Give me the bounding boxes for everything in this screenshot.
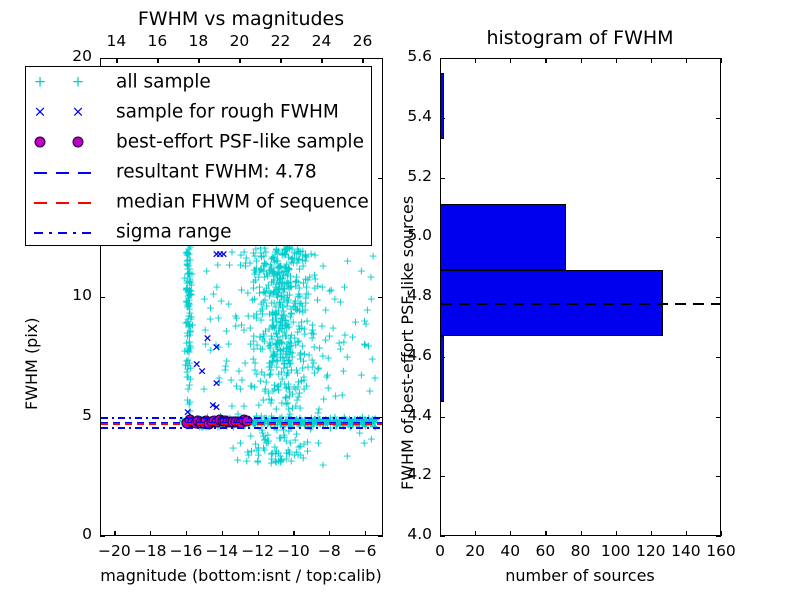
hist-ytick-label: 4.4 [407, 406, 432, 424]
all-sample-point: + [184, 268, 193, 279]
legend-entry[interactable]: sigma range [26, 218, 371, 246]
all-sample-point: + [241, 358, 250, 369]
hist-xtick-top [721, 58, 722, 63]
hist-xtick [545, 531, 546, 536]
all-sample-point: + [261, 434, 270, 445]
hist-ytick-label: 4.2 [407, 465, 432, 483]
hist-ytick-label: 4.0 [407, 525, 432, 543]
dashed-line [34, 172, 92, 174]
all-sample-point: + [220, 365, 229, 376]
all-sample-point: + [249, 277, 258, 288]
all-sample-point: + [367, 294, 376, 305]
all-sample-point: + [318, 460, 327, 471]
all-sample-point: + [280, 261, 289, 272]
dash-dot-line [34, 232, 92, 234]
legend-entry[interactable]: median FHWM of sequence [26, 188, 371, 216]
all-sample-point: + [310, 270, 319, 281]
hist-xtick-top [581, 58, 582, 63]
refline-median-fhwm-of-sequence [101, 423, 382, 425]
all-sample-point: + [357, 265, 366, 276]
histogram-xaxis-label: number of sources [505, 566, 655, 585]
hist-ytick-right [716, 536, 721, 537]
legend-entry[interactable]: best-effort PSF-like sample [26, 128, 371, 156]
hist-xtick-label: 100 [601, 542, 631, 560]
all-sample-point: + [361, 319, 370, 330]
hist-ytick-right [716, 357, 721, 358]
ytick-label: 20 [72, 47, 92, 65]
all-sample-point: + [186, 285, 195, 296]
all-sample-point: + [303, 436, 312, 447]
hist-xtick [475, 531, 476, 536]
all-sample-point: + [366, 271, 375, 282]
legend-entry-label: resultant FWHM: 4.78 [116, 162, 317, 183]
all-sample-point: + [185, 319, 194, 330]
xtick-label-bottom: −10 [277, 542, 310, 560]
hist-ytick-label: 5.2 [407, 167, 432, 185]
all-sample-point: + [233, 454, 242, 465]
hist-ytick [440, 536, 445, 537]
all-sample-point: + [370, 373, 379, 384]
ytick-left [100, 536, 105, 537]
all-sample-point: + [244, 311, 253, 322]
all-sample-point: + [276, 456, 285, 467]
all-sample-point: + [227, 247, 236, 258]
all-sample-point: + [271, 247, 280, 258]
hist-ytick [440, 417, 445, 418]
hist-ytick-label: 5.0 [407, 226, 432, 244]
legend-entry-label: best-effort PSF-like sample [116, 132, 364, 153]
all-sample-point: + [296, 403, 305, 414]
all-sample-point: + [254, 400, 263, 411]
hist-xtick [510, 531, 511, 536]
legend-entry[interactable]: resultant FWHM: 4.78 [26, 158, 371, 186]
all-sample-point: + [280, 358, 289, 369]
xtick-label-bottom: −6 [354, 542, 377, 560]
plot-legend: ++all sample××sample for rough FWHMbest-… [25, 66, 372, 246]
rough-fwhm-point: × [212, 401, 221, 412]
hist-ytick [440, 178, 445, 179]
hist-xtick-top [475, 58, 476, 63]
all-sample-point: + [368, 354, 377, 365]
all-sample-point: + [295, 283, 304, 294]
all-sample-point: + [323, 369, 332, 380]
scatter-plot-title: FWHM vs magnitudes [138, 8, 344, 30]
all-sample-point: + [339, 365, 348, 376]
hist-xtick [651, 531, 652, 536]
all-sample-point: + [272, 403, 281, 414]
all-sample-point: + [249, 354, 258, 365]
figure-canvas: FWHM vs magnitudes magnitude (bottom:isn… [0, 0, 800, 600]
all-sample-point: + [343, 351, 352, 362]
xtick-label-top: 22 [271, 32, 291, 50]
all-sample-point: + [268, 448, 277, 459]
ytick-label: 5 [82, 406, 92, 424]
scatter-yaxis-label: FWHM (pix) [22, 318, 41, 411]
all-sample-point: + [360, 339, 369, 350]
all-sample-point: + [348, 331, 357, 342]
hist-ytick-label: 4.8 [407, 286, 432, 304]
hist-ytick-label: 5.6 [407, 47, 432, 65]
hist-xtick [581, 531, 582, 536]
all-sample-point: + [319, 394, 328, 405]
legend-entry[interactable]: ××sample for rough FWHM [26, 98, 371, 126]
histogram-resultant-fwhm-line [441, 303, 720, 305]
all-sample-point: + [185, 308, 194, 319]
hist-xtick-label: 80 [571, 542, 591, 560]
all-sample-point: + [224, 338, 233, 349]
hist-ytick-right [716, 417, 721, 418]
all-sample-point: + [306, 423, 315, 434]
all-sample-point: + [269, 350, 278, 361]
all-sample-point: + [283, 397, 292, 408]
circle-marker [35, 137, 46, 148]
xtick-label-bottom: −20 [98, 542, 131, 560]
all-sample-point: + [257, 410, 266, 421]
all-sample-point: + [250, 381, 259, 392]
all-sample-point: + [225, 260, 234, 271]
all-sample-point: + [264, 279, 273, 290]
all-sample-point: + [286, 333, 295, 344]
all-sample-point: + [369, 251, 378, 262]
all-sample-point: + [357, 369, 366, 380]
legend-entry-label: sample for rough FWHM [116, 102, 339, 123]
all-sample-point: + [217, 296, 226, 307]
hist-xtick-label: 120 [636, 542, 666, 560]
all-sample-point: + [266, 369, 275, 380]
xtick-label-top: 20 [230, 32, 250, 50]
all-sample-point: + [343, 450, 352, 461]
all-sample-point: + [239, 400, 248, 411]
all-sample-point: + [259, 261, 268, 272]
histogram-bar [440, 204, 566, 270]
hist-xtick-label: 0 [435, 542, 445, 560]
legend-entry[interactable]: ++all sample [26, 68, 371, 96]
cross-marker: × [72, 105, 85, 120]
all-sample-point: + [249, 335, 258, 346]
scatter-xaxis-label: magnitude (bottom:isnt / top:calib) [100, 566, 381, 585]
all-sample-point: + [365, 386, 374, 397]
all-sample-point: + [182, 367, 191, 378]
all-sample-point: + [258, 303, 267, 314]
all-sample-point: + [321, 305, 330, 316]
plus-marker: + [72, 75, 85, 90]
hist-ytick [440, 476, 445, 477]
all-sample-point: + [343, 256, 352, 267]
hist-ytick-right [716, 58, 721, 59]
histogram-title: histogram of FWHM [486, 27, 673, 49]
ytick-label: 0 [82, 525, 92, 543]
all-sample-point: + [299, 260, 308, 271]
all-sample-point: + [236, 249, 245, 260]
all-sample-point: + [295, 349, 304, 360]
all-sample-point: + [200, 294, 209, 305]
hist-xtick-top [545, 58, 546, 63]
hist-xtick-label: 160 [706, 542, 736, 560]
xtick-label-top: 24 [312, 32, 332, 50]
all-sample-point: + [340, 282, 349, 293]
all-sample-point: + [279, 296, 288, 307]
all-sample-point: + [269, 268, 278, 279]
refline-sigma-range [101, 427, 382, 429]
all-sample-point: + [319, 261, 328, 272]
hist-xtick-label: 60 [536, 542, 556, 560]
all-sample-point: + [257, 250, 266, 261]
xtick-label-bottom: −14 [205, 542, 238, 560]
all-sample-point: + [351, 316, 360, 327]
xtick-label-bottom: −18 [134, 542, 167, 560]
all-sample-point: + [330, 294, 339, 305]
hist-ytick-right [716, 178, 721, 179]
all-sample-point: + [213, 259, 222, 270]
circle-marker [73, 137, 84, 148]
hist-xtick-label: 40 [500, 542, 520, 560]
hist-xtick-top [651, 58, 652, 63]
hist-xtick-top [510, 58, 511, 63]
all-sample-point: + [313, 295, 322, 306]
hist-ytick-right [716, 118, 721, 119]
all-sample-point: + [293, 367, 302, 378]
xtick-label-top: 16 [148, 32, 168, 50]
hist-ytick-label: 5.4 [407, 107, 432, 125]
all-sample-point: + [298, 245, 307, 256]
xtick-label-top: 14 [107, 32, 127, 50]
rough-fwhm-point: × [212, 378, 221, 389]
all-sample-point: + [310, 367, 319, 378]
xtick-label-bottom: −16 [170, 542, 203, 560]
all-sample-point: + [252, 444, 261, 455]
all-sample-point: + [243, 288, 252, 299]
all-sample-point: + [355, 428, 364, 439]
all-sample-point: + [214, 313, 223, 324]
hist-ytick-label: 4.6 [407, 346, 432, 364]
hist-xtick-label: 20 [465, 542, 485, 560]
hist-xtick [686, 531, 687, 536]
hist-xtick-label: 140 [671, 542, 701, 560]
rough-fwhm-point: × [197, 366, 206, 377]
histogram-bar [440, 336, 444, 402]
legend-entry-label: all sample [116, 72, 211, 93]
all-sample-point: + [274, 369, 283, 380]
all-sample-point: + [338, 389, 347, 400]
all-sample-point: + [231, 321, 240, 332]
all-sample-point: + [363, 305, 372, 316]
xtick-label-top: 18 [189, 32, 209, 50]
all-sample-point: + [314, 437, 323, 448]
hist-ytick-right [716, 237, 721, 238]
all-sample-point: + [291, 434, 300, 445]
xtick-label-bottom: −8 [318, 542, 341, 560]
all-sample-point: + [183, 254, 192, 265]
all-sample-point: + [296, 449, 305, 460]
xtick-label-bottom: −12 [241, 542, 274, 560]
all-sample-point: + [315, 342, 324, 353]
all-sample-point: + [287, 456, 296, 467]
ytick-right [378, 536, 383, 537]
cross-marker: × [34, 105, 47, 120]
histogram-bar [440, 73, 444, 139]
hist-xtick [616, 531, 617, 536]
plus-marker: + [34, 75, 47, 90]
hist-ytick [440, 58, 445, 59]
hist-ytick-right [716, 297, 721, 298]
xtick-label-top: 26 [353, 32, 373, 50]
all-sample-point: + [300, 324, 309, 335]
all-sample-point: + [325, 330, 334, 341]
all-sample-point: + [199, 384, 208, 395]
hist-xtick-top [686, 58, 687, 63]
rough-fwhm-point: × [203, 332, 212, 343]
legend-entry-label: sigma range [116, 222, 232, 243]
hist-xtick [721, 531, 722, 536]
rough-fwhm-point: × [212, 342, 221, 353]
dashed-line [34, 202, 92, 204]
all-sample-point: + [184, 347, 193, 358]
all-sample-point: + [324, 353, 333, 364]
all-sample-point: + [227, 400, 236, 411]
all-sample-point: + [222, 325, 231, 336]
refline-sigma-range [101, 417, 382, 419]
all-sample-point: + [285, 384, 294, 395]
rough-fwhm-point: × [219, 248, 228, 259]
all-sample-point: + [202, 265, 211, 276]
hist-ytick-right [716, 476, 721, 477]
ytick-label: 10 [72, 286, 92, 304]
all-sample-point: + [335, 337, 344, 348]
hist-xtick-top [616, 58, 617, 63]
legend-entry-label: median FHWM of sequence [116, 192, 369, 213]
all-sample-point: + [281, 314, 290, 325]
all-sample-point: + [236, 383, 245, 394]
